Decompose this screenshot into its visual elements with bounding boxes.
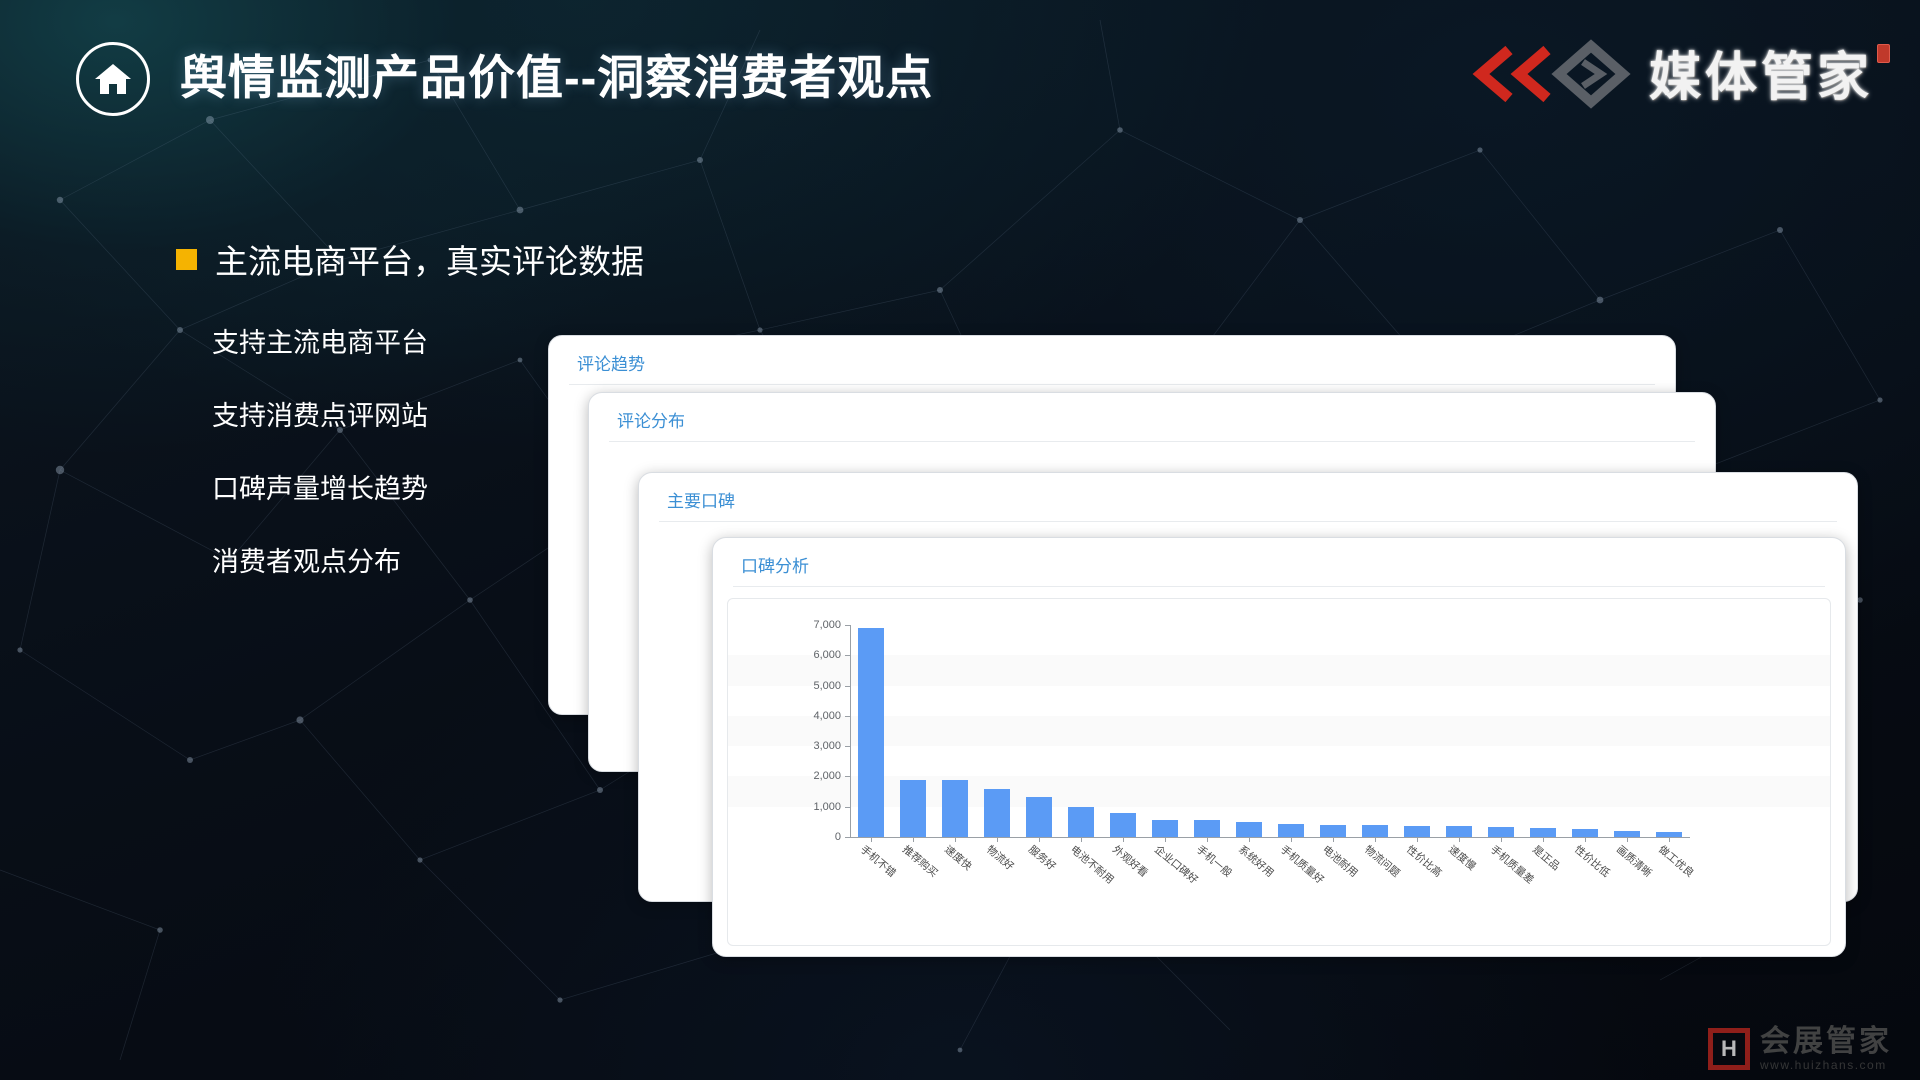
chart-bar-slot[interactable] <box>1396 625 1438 837</box>
red-seal-icon <box>1877 44 1890 63</box>
chart-bar[interactable] <box>1530 828 1556 837</box>
chart-x-tick-label: 速度慢 <box>1445 842 1479 874</box>
chart-x-tick-label: 性价比低 <box>1571 842 1613 880</box>
chart-bar[interactable] <box>1236 822 1262 837</box>
slide-header: 舆情监测产品价值--洞察消费者观点 媒体管家 <box>0 0 1920 150</box>
feature-list: 支持主流电商平台 支持消费点评网站 口碑声量增长趋势 消费者观点分布 <box>212 325 428 617</box>
card-title: 评论分布 <box>617 407 685 432</box>
chart-y-tick-label: 4,000 <box>813 710 841 722</box>
chart-bar[interactable] <box>1488 827 1514 837</box>
chart-bar-slot[interactable] <box>1648 625 1690 837</box>
chart-bar-slot[interactable] <box>1186 625 1228 837</box>
chart-y-tick <box>845 776 851 777</box>
chart-bar-slot[interactable] <box>1480 625 1522 837</box>
card-divider <box>733 586 1825 587</box>
list-item: 支持消费点评网站 <box>212 398 428 435</box>
card-divider <box>569 384 1655 385</box>
chart-bar[interactable] <box>984 789 1010 837</box>
chart-bar[interactable] <box>1068 807 1094 837</box>
card-title: 主要口碑 <box>667 487 735 512</box>
chart-bar-slot[interactable] <box>1606 625 1648 837</box>
chart-y-tick <box>845 686 851 687</box>
chart-x-axis <box>850 837 1690 838</box>
chart-bar[interactable] <box>1404 826 1430 837</box>
chart-x-tick-label: 手机不错 <box>857 842 899 880</box>
watermark-logo-icon: H <box>1708 1028 1750 1070</box>
home-badge[interactable] <box>76 42 150 116</box>
chart-bar[interactable] <box>1320 825 1346 837</box>
chart-plot-area <box>850 625 1690 837</box>
card-title: 口碑分析 <box>741 552 809 577</box>
page-title: 舆情监测产品价值--洞察消费者观点 <box>180 44 933 112</box>
chart-bar[interactable] <box>942 780 968 837</box>
chart-y-tick <box>845 716 851 717</box>
chart-x-tick-label: 手机质量好 <box>1277 842 1327 887</box>
chart-bar[interactable] <box>1572 829 1598 837</box>
chart-x-tick-label: 服务好 <box>1025 842 1059 874</box>
chart-bar-slot[interactable] <box>1438 625 1480 837</box>
watermark-logo-letter: H <box>1721 1038 1737 1060</box>
square-bullet-icon <box>176 249 197 270</box>
chart-bar[interactable] <box>900 780 926 837</box>
list-item: 消费者观点分布 <box>212 544 428 581</box>
home-icon <box>93 61 133 97</box>
chart-bar[interactable] <box>1026 797 1052 837</box>
chart-x-tick-label: 系统好用 <box>1235 842 1277 880</box>
chart-bar-slot[interactable] <box>934 625 976 837</box>
reputation-bar-chart: 01,0002,0003,0004,0005,0006,0007,000 手机不… <box>727 598 1831 946</box>
bullet-headline: 主流电商平台，真实评论数据 <box>176 235 644 283</box>
watermark-name: 会展管家 <box>1760 1026 1892 1058</box>
chart-y-tick-label: 5,000 <box>813 680 841 692</box>
chart-y-tick-label: 7,000 <box>813 619 841 631</box>
chart-x-tick-label: 速度快 <box>941 842 975 874</box>
chart-y-tick-label: 1,000 <box>813 801 841 813</box>
chart-x-tick-label: 推荐购买 <box>899 842 941 880</box>
chart-bar[interactable] <box>1194 820 1220 837</box>
chart-y-tick <box>845 655 851 656</box>
chart-bar-slot[interactable] <box>1060 625 1102 837</box>
chart-x-tick-label: 画质清晰 <box>1613 842 1655 880</box>
chart-bar-slot[interactable] <box>892 625 934 837</box>
card-title: 评论趋势 <box>577 350 645 375</box>
chart-bar-slot[interactable] <box>1102 625 1144 837</box>
chart-bar-slot[interactable] <box>850 625 892 837</box>
card-divider <box>609 441 1695 442</box>
chart-bar[interactable] <box>1362 825 1388 837</box>
brand-name: 媒体管家 <box>1649 35 1873 110</box>
chart-x-tick-label: 性价比高 <box>1403 842 1445 880</box>
chart-y-tick-label: 6,000 <box>813 649 841 661</box>
double-chevron-logo-icon <box>1463 38 1641 110</box>
chart-bar[interactable] <box>1110 813 1136 837</box>
chart-bars <box>850 625 1690 837</box>
chart-x-labels: 手机不错推荐购买速度快物流好服务好电池不耐用外观好看企业口碑好手机一般系统好用手… <box>850 842 1690 932</box>
chart-bar[interactable] <box>1278 824 1304 837</box>
chart-y-tick-label: 0 <box>835 831 841 843</box>
card-divider <box>659 521 1837 522</box>
chart-bar[interactable] <box>1446 826 1472 837</box>
chart-bar-slot[interactable] <box>1144 625 1186 837</box>
chart-bar-slot[interactable] <box>1522 625 1564 837</box>
bullet-headline-text: 主流电商平台，真实评论数据 <box>215 235 644 283</box>
chart-bar-slot[interactable] <box>976 625 1018 837</box>
chart-bar-slot[interactable] <box>1228 625 1270 837</box>
chart-y-tick-label: 2,000 <box>813 770 841 782</box>
chart-bar-slot[interactable] <box>1312 625 1354 837</box>
chart-y-axis: 01,0002,0003,0004,0005,0006,0007,000 <box>850 625 851 837</box>
chart-bar[interactable] <box>1152 820 1178 837</box>
list-item: 口碑声量增长趋势 <box>212 471 428 508</box>
chart-y-tick <box>845 746 851 747</box>
chart-x-tick-label: 物流好 <box>983 842 1017 874</box>
chart-x-tick-label: 是正品 <box>1529 842 1563 874</box>
chart-bar[interactable] <box>858 628 884 837</box>
chart-x-tick-label: 企业口碑好 <box>1151 842 1201 887</box>
chart-bar-slot[interactable] <box>1354 625 1396 837</box>
card-reputation-analysis[interactable]: 口碑分析 01,0002,0003,0004,0005,0006,0007,00… <box>712 537 1846 957</box>
chart-bar-slot[interactable] <box>1018 625 1060 837</box>
chart-bar-slot[interactable] <box>1564 625 1606 837</box>
list-item: 支持主流电商平台 <box>212 325 428 362</box>
brand-logo: 媒体管家 <box>1463 34 1890 114</box>
chart-x-tick-label: 电池不耐用 <box>1067 842 1117 887</box>
chart-x-tick-label: 手机质量差 <box>1487 842 1537 887</box>
chart-x-tick-label: 物流问题 <box>1361 842 1403 880</box>
chart-y-tick <box>845 625 851 626</box>
chart-bar-slot[interactable] <box>1270 625 1312 837</box>
watermark-url: www.huizhans.com <box>1760 1058 1892 1072</box>
chart-y-tick-label: 3,000 <box>813 740 841 752</box>
chart-y-tick <box>845 807 851 808</box>
watermark: H 会展管家 www.huizhans.com <box>1708 1026 1892 1072</box>
